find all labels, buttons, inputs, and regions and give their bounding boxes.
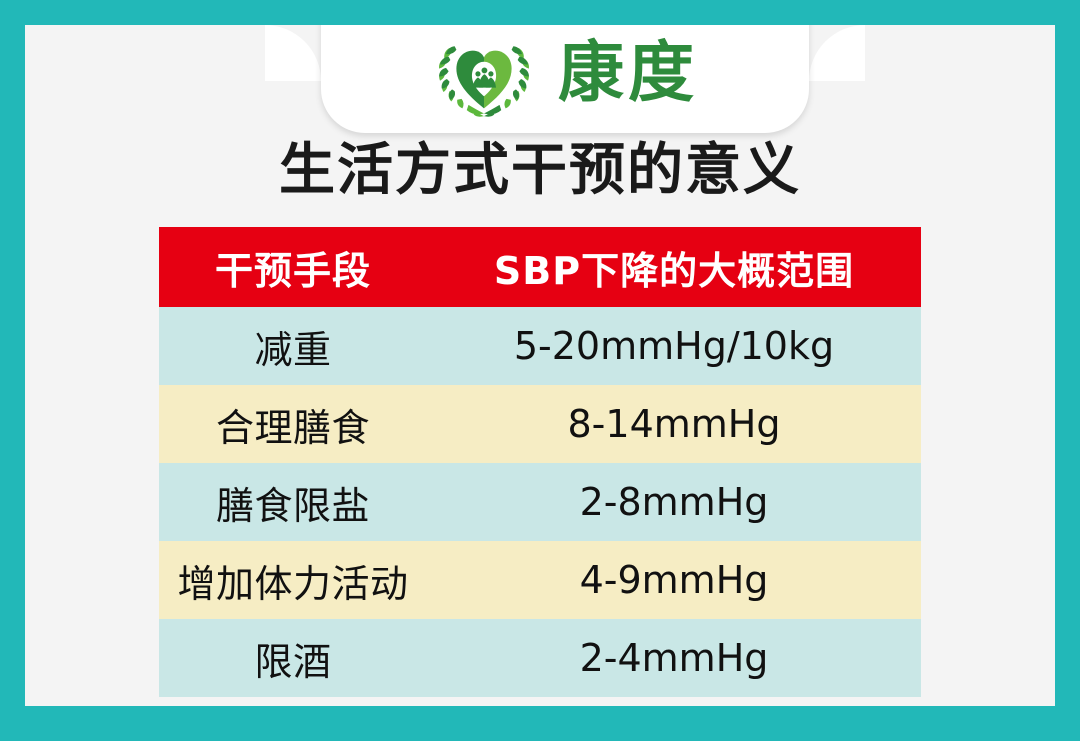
brand-lockup: 康度 xyxy=(321,25,809,120)
cell-measure: 限酒 xyxy=(159,619,427,697)
poster-root: 康度 生活方式干预的意义 干预手段 SBP下降的大概范围 减重 5-20mmHg… xyxy=(0,0,1080,741)
column-header-measure: 干预手段 xyxy=(159,227,427,307)
cell-measure: 增加体力活动 xyxy=(159,541,427,619)
table-header-row: 干预手段 SBP下降的大概范围 xyxy=(159,227,921,307)
intervention-table: 干预手段 SBP下降的大概范围 减重 5-20mmHg/10kg 合理膳食 8-… xyxy=(159,227,921,697)
cell-measure: 减重 xyxy=(159,307,427,385)
table-row: 合理膳食 8-14mmHg xyxy=(159,385,921,463)
table-row: 膳食限盐 2-8mmHg xyxy=(159,463,921,541)
table-header: 干预手段 SBP下降的大概范围 xyxy=(159,227,921,307)
brand-logo-card: 康度 xyxy=(321,25,809,133)
table-row: 减重 5-20mmHg/10kg xyxy=(159,307,921,385)
table-body: 减重 5-20mmHg/10kg 合理膳食 8-14mmHg 膳食限盐 2-8m… xyxy=(159,307,921,697)
cell-measure: 合理膳食 xyxy=(159,385,427,463)
cell-value: 8-14mmHg xyxy=(427,385,921,463)
table-row: 增加体力活动 4-9mmHg xyxy=(159,541,921,619)
page-title: 生活方式干预的意义 xyxy=(25,131,1055,211)
cell-value: 2-8mmHg xyxy=(427,463,921,541)
cell-measure: 膳食限盐 xyxy=(159,463,427,541)
logo-card-shoulder-right xyxy=(809,25,865,81)
content-panel: 康度 生活方式干预的意义 干预手段 SBP下降的大概范围 减重 5-20mmHg… xyxy=(25,25,1055,706)
cell-value: 5-20mmHg/10kg xyxy=(427,307,921,385)
logo-card-shoulder-left xyxy=(265,25,321,81)
cell-value: 2-4mmHg xyxy=(427,619,921,697)
table-row: 限酒 2-4mmHg xyxy=(159,619,921,697)
cell-value: 4-9mmHg xyxy=(427,541,921,619)
heart-wheat-family-logo-icon xyxy=(432,29,536,117)
brand-name: 康度 xyxy=(558,40,698,106)
column-header-value: SBP下降的大概范围 xyxy=(427,227,921,307)
